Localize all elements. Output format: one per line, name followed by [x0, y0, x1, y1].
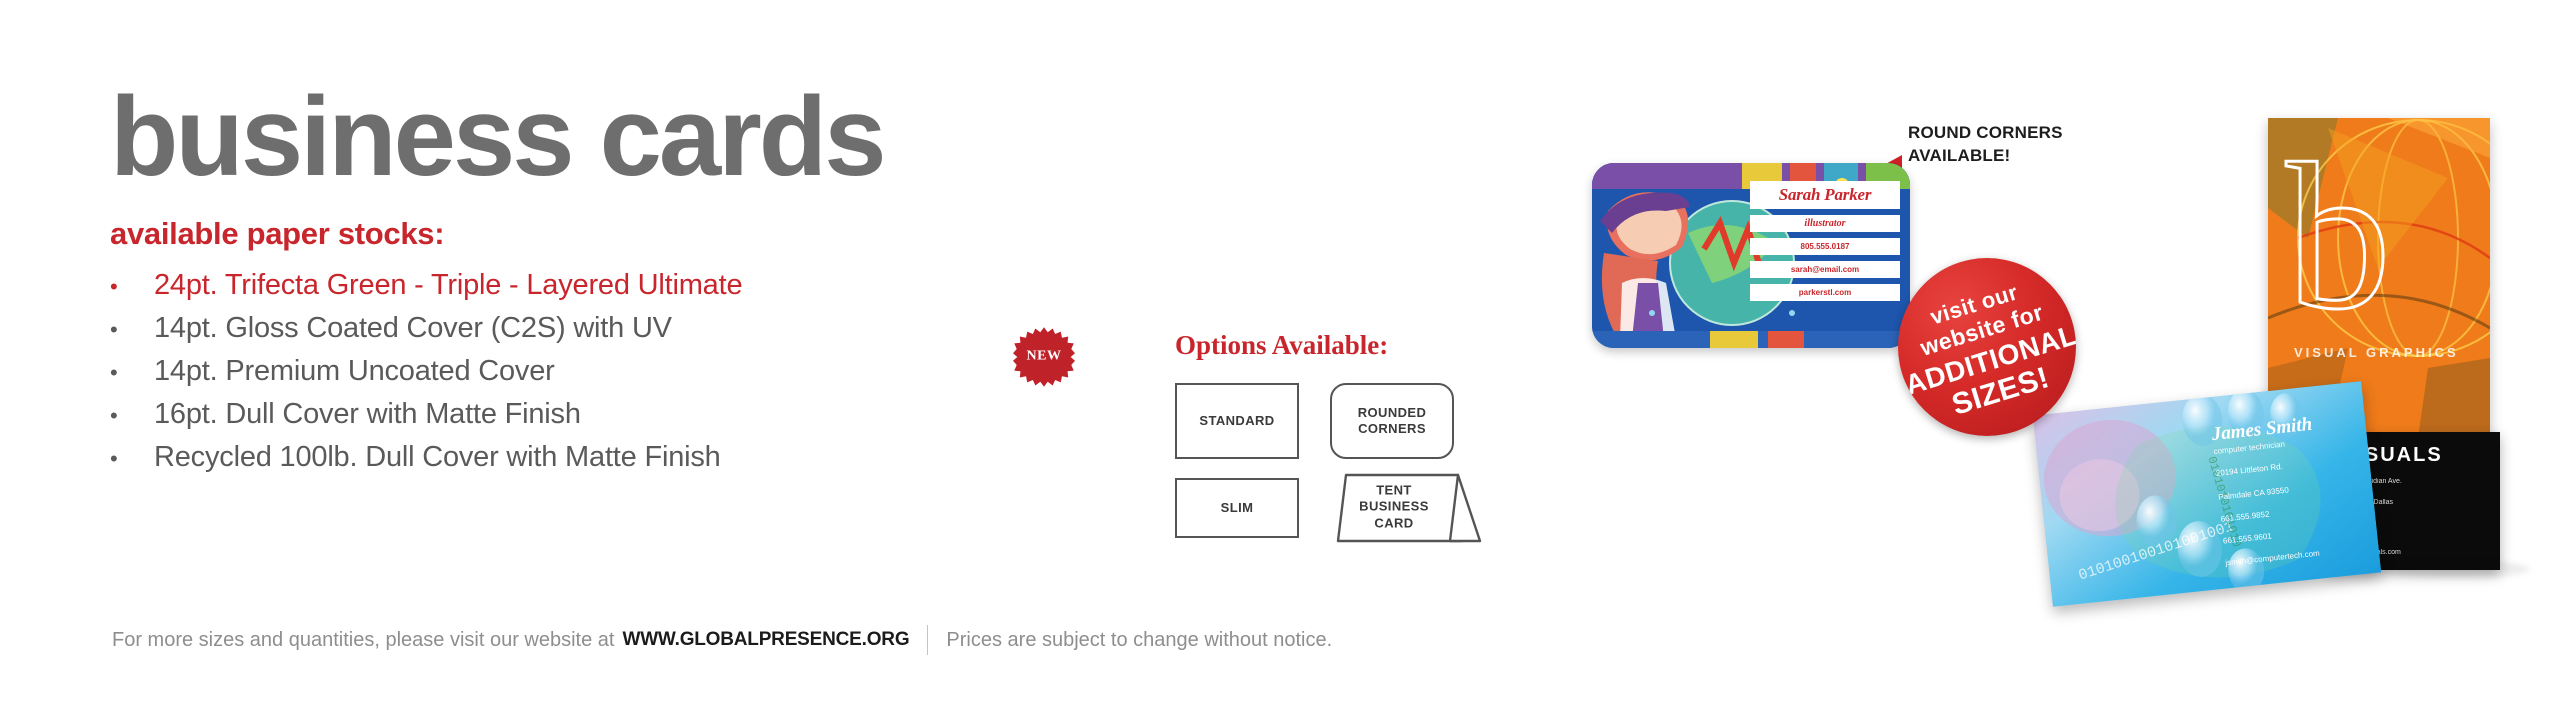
- option-standard[interactable]: STANDARD: [1175, 383, 1299, 459]
- card-tagline: VISUAL GRAPHICS: [2294, 345, 2459, 360]
- paper-stocks-list: • 24pt. Trifecta Green - Triple - Layere…: [110, 264, 1110, 479]
- card-address-line-2: Palmdale CA 93550: [2218, 477, 2358, 504]
- options-available-section: Options Available: STANDARD ROUNDED CORN…: [1175, 330, 1535, 583]
- new-badge-label: NEW: [1013, 349, 1075, 365]
- options-available-title: Options Available:: [1175, 330, 1535, 361]
- footer-price-note: Prices are subject to change without not…: [946, 629, 1332, 652]
- business-cards-promo-sheet: business cards available paper stocks: •…: [0, 0, 2560, 702]
- option-label: STANDARD: [1199, 413, 1274, 429]
- paper-stock-label: 14pt. Gloss Coated Cover (C2S) with UV: [154, 314, 672, 343]
- additional-sizes-sticker[interactable]: visit our website for ADDITIONAL SIZES!: [1898, 258, 2076, 436]
- option-label: SLIM: [1221, 500, 1254, 516]
- paper-stock-label: 16pt. Dull Cover with Matte Finish: [154, 400, 581, 429]
- business-card-james-smith: 010100100101001001 0101010101010 James S…: [2033, 381, 2381, 606]
- card-shadow: [2380, 560, 2530, 578]
- bullet-icon: •: [110, 448, 154, 470]
- option-tent-business-card[interactable]: TENT BUSINESS CARD: [1330, 471, 1510, 543]
- list-item: • 14pt. Premium Uncoated Cover: [110, 350, 1110, 393]
- round-corners-callout: ROUND CORNERS AVAILABLE!: [1908, 122, 2063, 168]
- footer-divider: [927, 625, 928, 655]
- card-text-panels: Sarah Parker illustrator 805.555.0187 sa…: [1750, 181, 1900, 307]
- options-grid: STANDARD ROUNDED CORNERS SLIM TENT BUSIN…: [1175, 383, 1515, 583]
- bullet-icon: •: [110, 362, 154, 384]
- page-title: business cards: [110, 84, 1110, 190]
- list-item: • 16pt. Dull Cover with Matte Finish: [110, 393, 1110, 436]
- option-label: TENT BUSINESS CARD: [1338, 483, 1450, 532]
- footer: For more sizes and quantities, please vi…: [112, 625, 1332, 655]
- card-phone-2: 661.555.9601: [2222, 521, 2362, 548]
- business-card-sarah-parker: Sarah Parker illustrator 805.555.0187 sa…: [1592, 163, 1910, 348]
- option-rounded-corners[interactable]: ROUNDED CORNERS: [1330, 383, 1454, 459]
- footer-website-link[interactable]: WWW.GLOBALPRESENCE.ORG: [622, 629, 909, 651]
- paper-stock-label: 24pt. Trifecta Green - Triple - Layered …: [154, 271, 742, 300]
- bullet-icon: •: [110, 319, 154, 341]
- card-address-line-1: 20194 Littleton Rd.: [2215, 453, 2355, 480]
- card-website: parkerstl.com: [1750, 284, 1900, 301]
- list-item: • 24pt. Trifecta Green - Triple - Layere…: [110, 264, 1110, 307]
- card-phone-1: 661.555.9852: [2220, 499, 2360, 526]
- left-content-column: business cards available paper stocks: •…: [110, 84, 1110, 479]
- paper-stock-label: 14pt. Premium Uncoated Cover: [154, 357, 555, 386]
- card-phone: 805.555.0187: [1750, 238, 1900, 255]
- card-role: illustrator: [1750, 215, 1900, 232]
- list-item: • Recycled 100lb. Dull Cover with Matte …: [110, 436, 1110, 479]
- bullet-icon: •: [110, 276, 154, 298]
- option-slim[interactable]: SLIM: [1175, 478, 1299, 538]
- paper-stock-label: Recycled 100lb. Dull Cover with Matte Fi…: [154, 443, 721, 472]
- bullet-icon: •: [110, 405, 154, 427]
- card-monogram: b: [2286, 132, 2391, 342]
- new-badge: NEW: [1013, 326, 1075, 388]
- option-label: ROUNDED CORNERS: [1358, 405, 1427, 438]
- footer-lead-text: For more sizes and quantities, please vi…: [112, 629, 614, 652]
- card-email: sarah@email.com: [1750, 261, 1900, 278]
- list-item: • 14pt. Gloss Coated Cover (C2S) with UV: [110, 307, 1110, 350]
- card-text-block: James Smith computer technician 20194 Li…: [2211, 411, 2365, 570]
- card-name: Sarah Parker: [1750, 181, 1900, 209]
- sticker-text: visit our website for ADDITIONAL SIZES!: [1898, 258, 2076, 436]
- paper-stocks-heading: available paper stocks:: [110, 216, 1110, 252]
